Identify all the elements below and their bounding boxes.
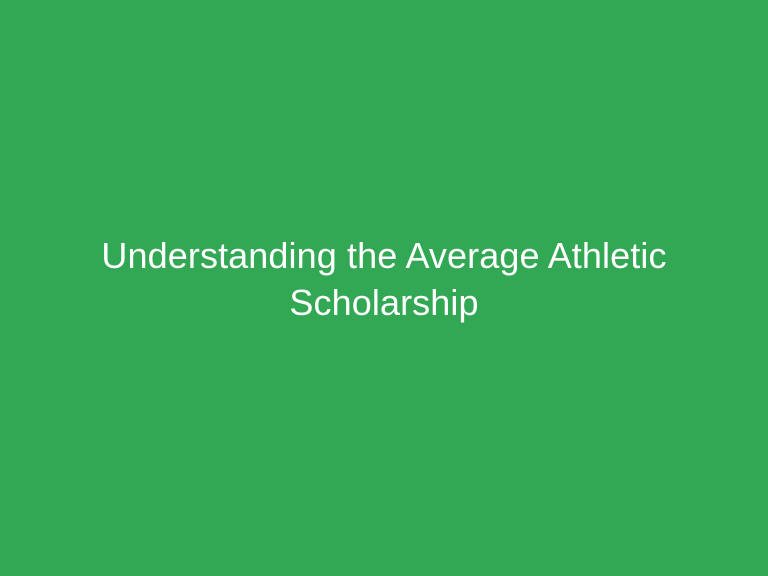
hero-card: Understanding the Average Athletic Schol… [0,0,768,576]
page-title: Understanding the Average Athletic Schol… [74,232,694,326]
hero-title-container: Understanding the Average Athletic Schol… [74,232,694,326]
